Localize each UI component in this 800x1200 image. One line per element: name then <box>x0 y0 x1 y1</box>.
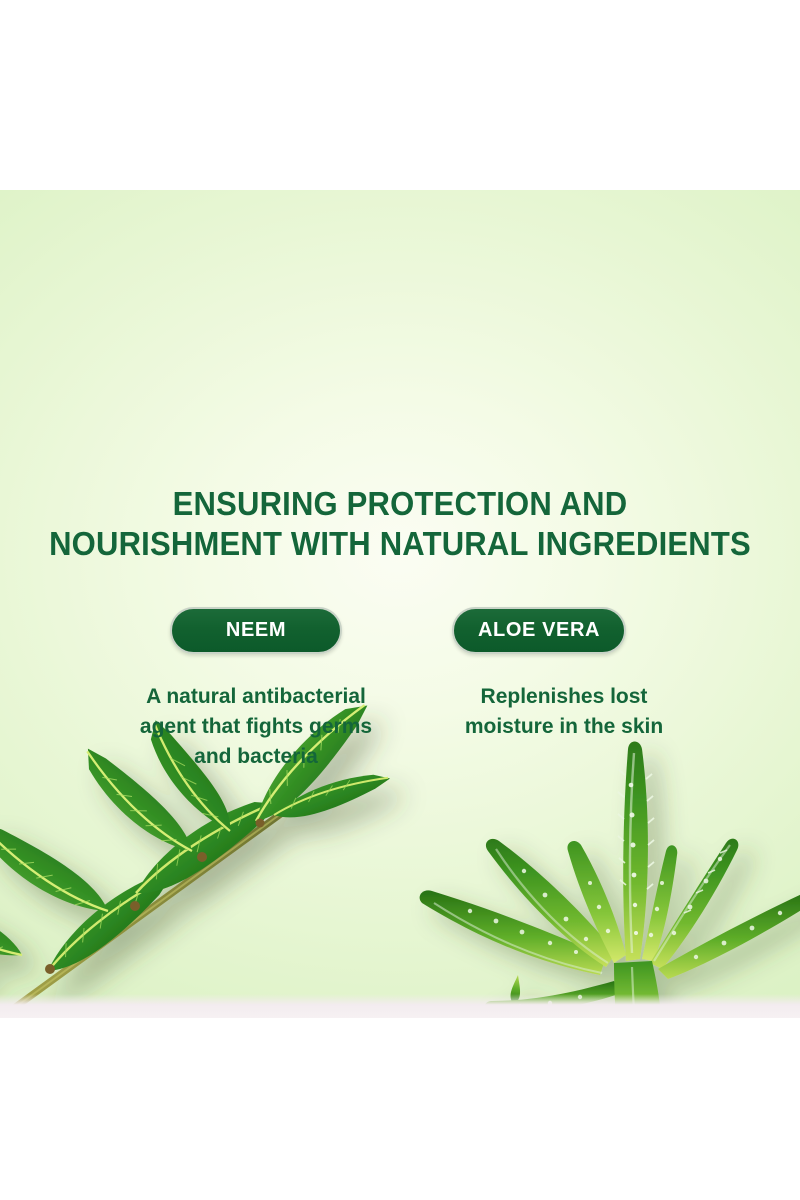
page-title-line-1: ENSURING PROTECTION AND <box>24 484 776 524</box>
page-title-line-2: NOURISHMENT WITH NATURAL INGREDIENTS <box>24 524 776 564</box>
ingredient-description-neem: A natural antibacterial agent that fight… <box>126 682 386 772</box>
ingredient-badge-aloe-vera[interactable]: ALOE VERA <box>452 607 626 654</box>
ingredient-badge-row: NEEM ALOE VERA <box>0 607 800 657</box>
ingredient-description-aloe-vera: Replenishes lost moisture in the skin <box>440 682 688 742</box>
page-title: ENSURING PROTECTION AND NOURISHMENT WITH… <box>24 484 776 564</box>
ingredient-badge-neem[interactable]: NEEM <box>170 607 342 654</box>
banner-content-area: ENSURING PROTECTION AND NOURISHMENT WITH… <box>0 190 800 1018</box>
banner-floor-strip <box>0 994 800 1018</box>
product-benefits-banner: ENSURING PROTECTION AND NOURISHMENT WITH… <box>0 0 800 1200</box>
